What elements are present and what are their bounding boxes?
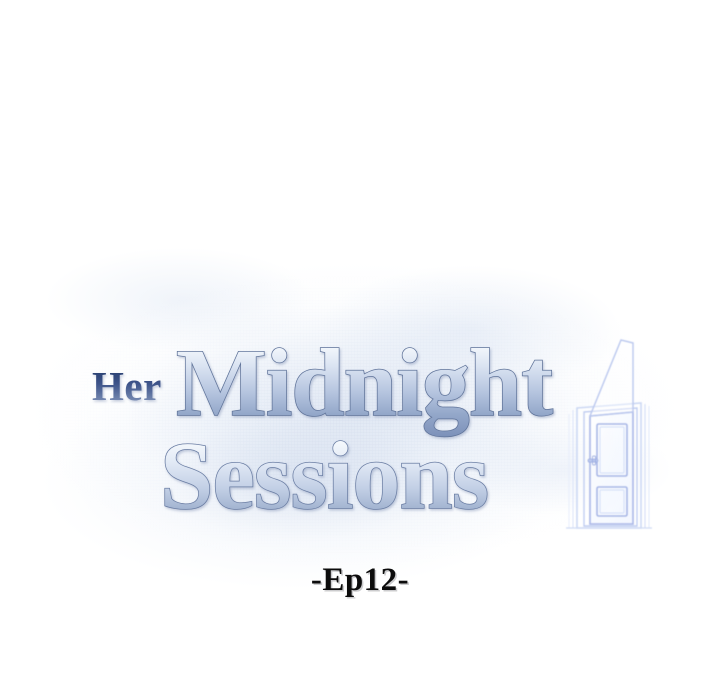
title-line-sessions: Sessions [160, 422, 488, 529]
open-door-icon [566, 340, 652, 528]
title-prefix-her: Her [92, 363, 162, 409]
episode-label: -Ep12- [0, 562, 720, 599]
title-card-canvas: Her Midnight Sessions -Ep12- [0, 0, 720, 700]
title-line-midnight: Midnight [176, 329, 553, 436]
